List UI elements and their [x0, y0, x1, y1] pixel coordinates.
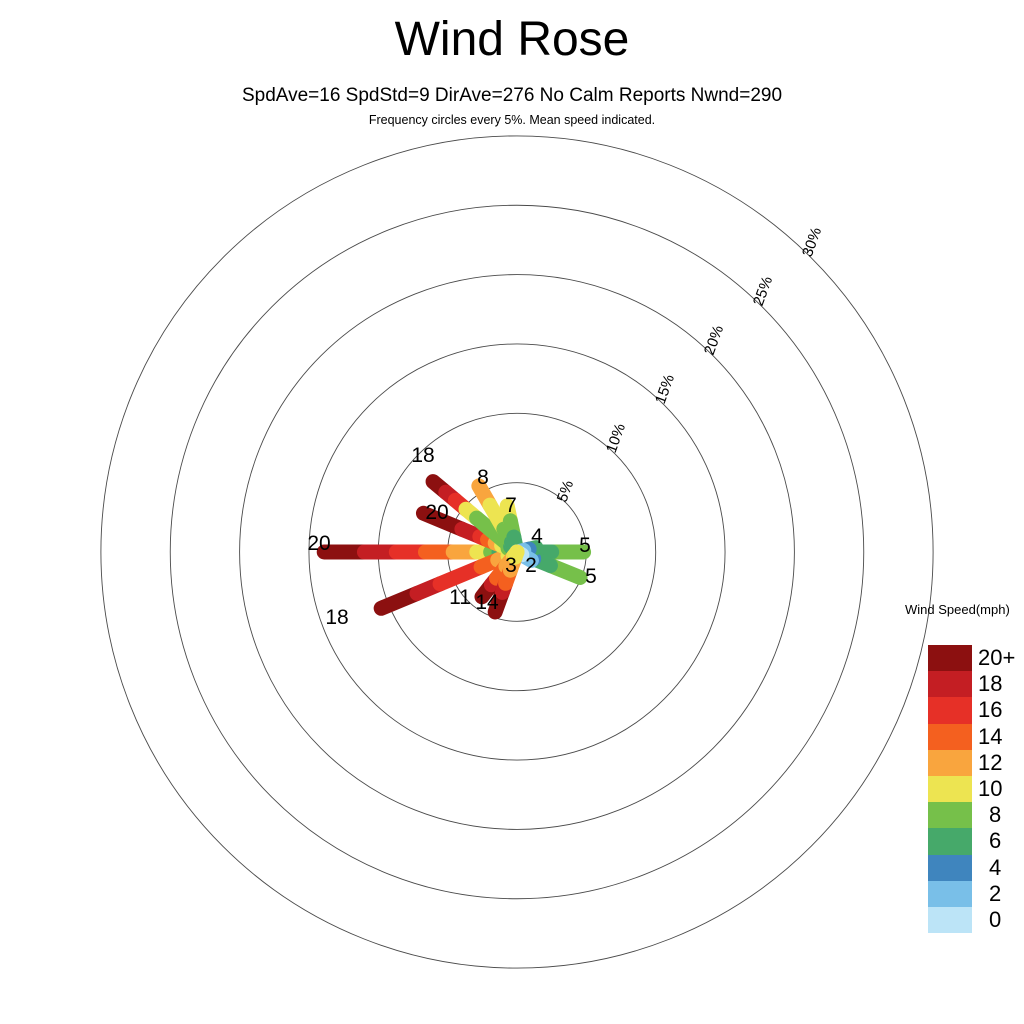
legend-swatch: [928, 802, 972, 828]
mean-speed-label: 5: [585, 565, 597, 588]
mean-speed-label: 20: [307, 532, 330, 555]
legend-label: 4: [978, 855, 1015, 881]
ring-tick-label: 10%: [603, 421, 629, 455]
legend-swatch: [928, 750, 972, 776]
legend-label: 0: [978, 907, 1015, 933]
legend-title: Wind Speed(mph): [905, 602, 1010, 617]
legend-label: 2: [978, 881, 1015, 907]
mean-speed-labels: 1887202045523111418: [307, 444, 597, 629]
mean-speed-label: 7: [505, 494, 517, 517]
legend-swatch: [928, 881, 972, 907]
ring-tick-label: 5%: [554, 478, 577, 504]
ring-tick-label: 20%: [701, 323, 727, 357]
legend-swatch: [928, 724, 972, 750]
mean-speed-label: 8: [477, 466, 489, 489]
mean-speed-label: 4: [531, 525, 543, 548]
legend-label: 12: [978, 750, 1015, 776]
wind-rose-page: Wind Rose SpdAve=16 SpdStd=9 DirAve=276 …: [0, 0, 1024, 1024]
legend-swatch: [928, 855, 972, 881]
legend-swatch: [928, 907, 972, 933]
legend-label: 8: [978, 802, 1015, 828]
ring-tick-label: 25%: [750, 274, 776, 308]
legend-swatch: [928, 645, 972, 671]
legend-swatch: [928, 828, 972, 854]
legend-label: 20+: [978, 645, 1015, 671]
mean-speed-label: 14: [475, 591, 499, 614]
mean-speed-label: 20: [425, 501, 448, 524]
mean-speed-label: 18: [411, 444, 434, 467]
ring-tick-labels: 5%10%15%20%25%30%: [554, 225, 825, 504]
wind-rose-plot: 5%10%15%20%25%30% 1887202045523111418: [0, 0, 1024, 1024]
legend-label: 14: [978, 724, 1015, 750]
legend-label: 16: [978, 697, 1015, 723]
ring-tick-label: 30%: [799, 225, 825, 259]
legend-label: 10: [978, 776, 1015, 802]
mean-speed-label: 3: [505, 554, 517, 577]
legend-label: 18: [978, 671, 1015, 697]
mean-speed-label: 18: [325, 606, 348, 629]
ring-tick-label: 15%: [652, 372, 678, 406]
mean-speed-label: 11: [449, 586, 471, 609]
mean-speed-label: 5: [579, 534, 591, 557]
legend-swatch: [928, 671, 972, 697]
legend-swatch: [928, 697, 972, 723]
legend-label: 6: [978, 828, 1015, 854]
legend-color-swatches: [928, 645, 972, 933]
mean-speed-label: 2: [525, 554, 537, 577]
legend-labels: 20+181614121086420: [978, 645, 1015, 933]
legend-swatch: [928, 776, 972, 802]
